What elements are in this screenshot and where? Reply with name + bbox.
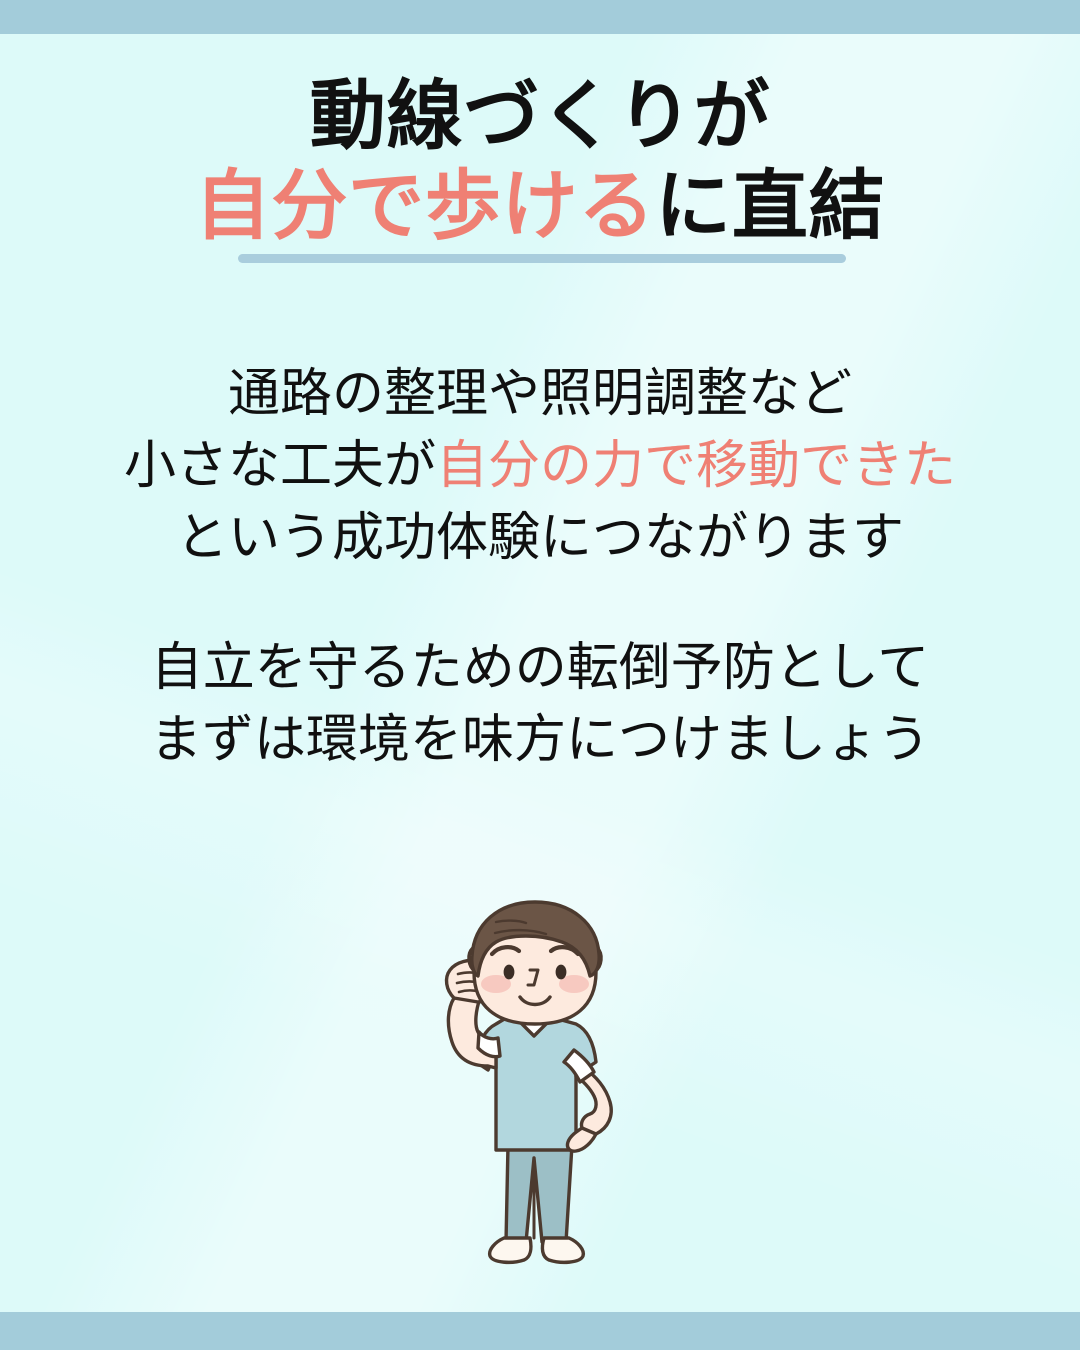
title-line-1: 動線づくりが [0,72,1080,162]
title-plain-text: に直結 [655,164,885,249]
title-line-2: 自分で歩けるに直結 [0,162,1080,252]
paragraph-spacer [0,574,1080,632]
title-divider-rule [238,254,846,263]
body-p1-line-2-accent: 自分の力で移動できた [436,437,956,495]
shoe-left [490,1238,531,1262]
body-p1-line-3: という成功体験につながります [0,502,1080,574]
top-accent-bar [0,0,1080,34]
trousers [506,1145,572,1242]
title-accent-text: 自分で歩ける [195,164,656,249]
body-p2-line-2: まずは環境を味方につけましょう [0,704,1080,776]
body-p2-line-1: 自立を守るための転倒予防として [0,632,1080,704]
page-title: 動線づくりが 自分で歩けるに直結 [0,72,1080,251]
shoe-right [542,1238,583,1262]
body-p1-line-2-prefix: 小さな工夫が [124,437,436,495]
eye-right [556,965,567,980]
bottom-accent-bar [0,1312,1080,1350]
illustration-smiling-man [400,890,700,1290]
body-copy: 通路の整理や照明調整など 小さな工夫が自分の力で移動できた という成功体験につな… [0,358,1080,776]
slide-canvas: 動線づくりが 自分で歩けるに直結 通路の整理や照明調整など 小さな工夫が自分の力… [0,0,1080,1350]
eye-left [504,965,515,980]
body-p1-line-2: 小さな工夫が自分の力で移動できた [0,430,1080,502]
body-p1-line-1: 通路の整理や照明調整など [0,358,1080,430]
